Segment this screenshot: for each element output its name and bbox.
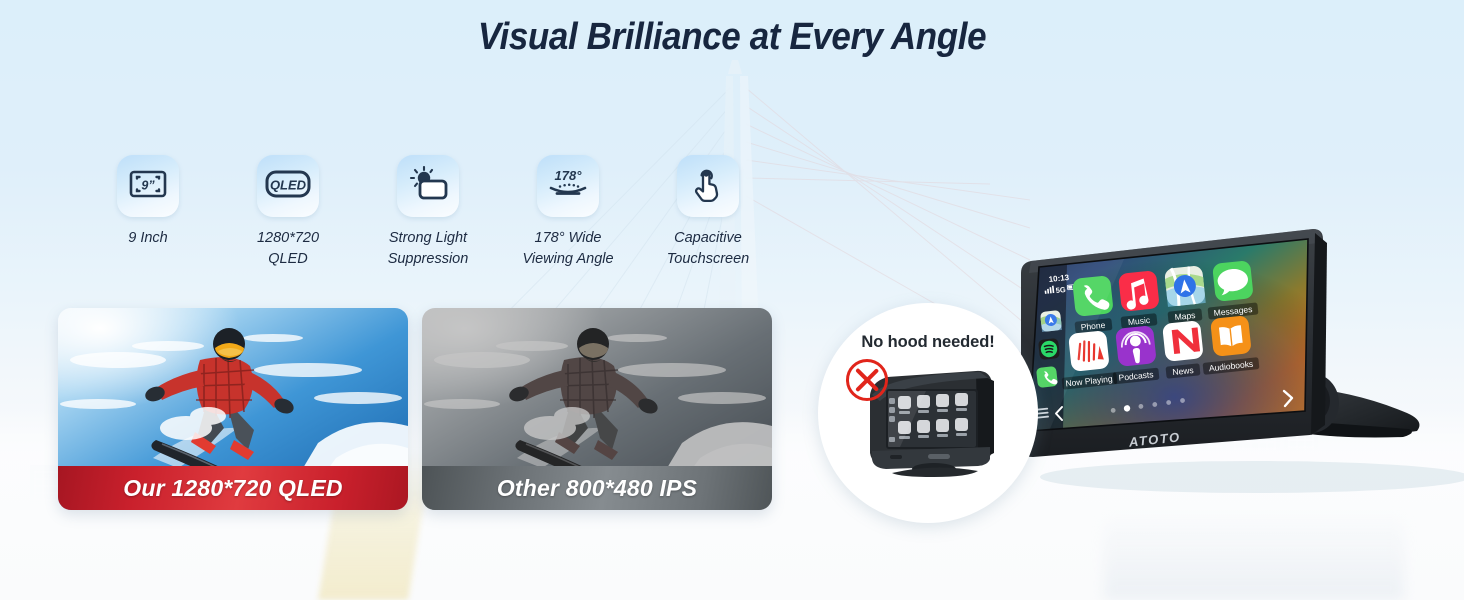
feature-item-touchscreen: CapacitiveTouchscreen [638,155,778,270]
red-x-icon [846,359,888,401]
svg-text:9”: 9” [141,178,155,192]
feature-icon-box [677,155,739,217]
svg-text:QLED: QLED [270,177,307,192]
feature-icon-box: 9” [117,155,179,217]
carplay-device: 10:13 5G [1005,225,1464,505]
touch-finger-icon [690,165,726,208]
feature-label: 178° WideViewing Angle [498,228,638,270]
feature-list: 9” 9 Inch QLED 1280*720QLED [78,155,778,270]
feature-label: 9 Inch [78,228,218,249]
promo-banner: Visual Brilliance at Every Angle 9” 9 In… [0,0,1464,600]
feature-item-screen-size: 9” 9 Inch [78,155,218,270]
no-hood-label: No hood needed! [818,333,1038,352]
sun-glare-screen-icon [407,166,449,207]
comparison-card-ours: Our 1280*720 QLED [58,308,408,510]
svg-text:178°: 178° [555,168,583,183]
feature-label: Strong LightSuppression [358,228,498,270]
feature-item-viewing-angle: 178° 178° WideViewing Angle [498,155,638,270]
no-hood-callout: No hood needed! [818,303,1038,523]
feature-icon-box: 178° [537,155,599,217]
comparison-banner-ours: Our 1280*720 QLED [58,466,408,510]
feature-label: 1280*720QLED [218,228,358,270]
feature-label: CapacitiveTouchscreen [638,228,778,270]
feature-icon-box: QLED [257,155,319,217]
screen-size-icon: 9” [128,169,168,204]
comparison-card-other: Other 800*480 IPS [422,308,772,510]
road-shadow [1104,510,1404,600]
comparison-banner-other: Other 800*480 IPS [422,466,772,510]
qled-badge-icon: QLED [265,170,311,203]
viewing-angle-icon: 178° [545,166,591,207]
page-title: Visual Brilliance at Every Angle [59,16,1406,59]
feature-icon-box [397,155,459,217]
feature-item-light-suppression: Strong LightSuppression [358,155,498,270]
feature-item-qled: QLED 1280*720QLED [218,155,358,270]
